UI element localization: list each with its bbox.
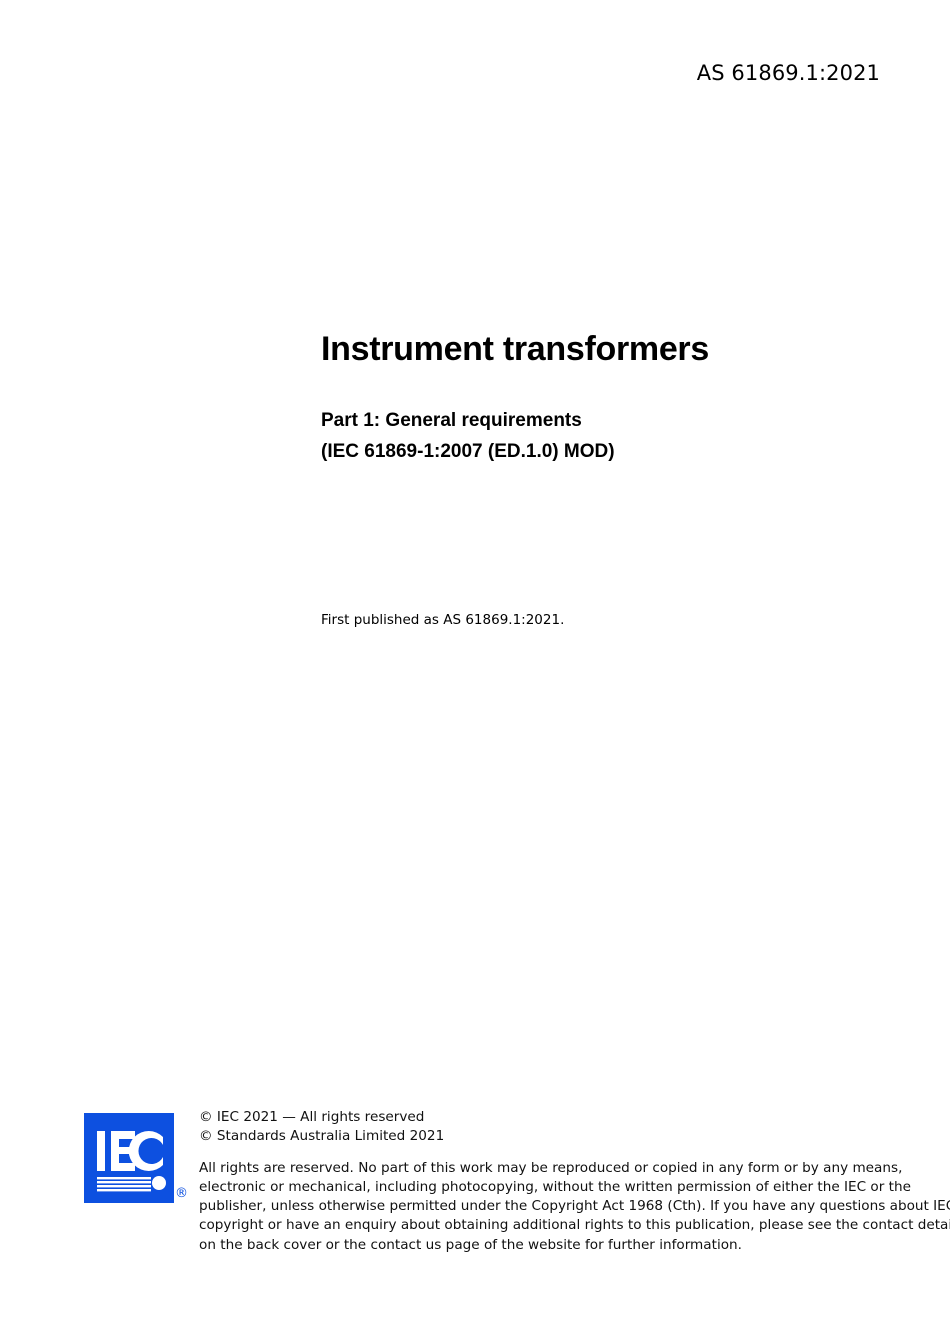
- publication-note: First published as AS 61869.1:2021.: [321, 612, 564, 628]
- page-footer: ® © IEC 2021 — All rights reserved © Sta…: [0, 1108, 950, 1248]
- iec-logo: ®: [84, 1113, 188, 1217]
- title-block: Instrument transformers Part 1: General …: [321, 330, 890, 468]
- subtitle-block: Part 1: General requirements (IEC 61869-…: [321, 406, 890, 468]
- legal-paragraph: All rights are reserved. No part of this…: [199, 1159, 881, 1255]
- iec-logo-mark-icon: [84, 1113, 174, 1203]
- page-title: Instrument transformers: [321, 330, 890, 368]
- subtitle-line-part: Part 1: General requirements: [321, 406, 890, 437]
- iec-logo-square: [84, 1113, 174, 1203]
- legal-block: © IEC 2021 — All rights reserved © Stand…: [199, 1108, 881, 1255]
- subtitle-line-source: (IEC 61869-1:2007 (ED.1.0) MOD): [321, 437, 890, 468]
- registered-trademark-icon: ®: [175, 1187, 188, 1200]
- copyright-line-standards-australia: © Standards Australia Limited 2021: [199, 1127, 881, 1146]
- legal-line: All rights are reserved. No part of this…: [199, 1159, 881, 1178]
- legal-line: electronic or mechanical, including phot…: [199, 1178, 881, 1197]
- legal-line: copyright or have an enquiry about obtai…: [199, 1216, 881, 1235]
- standard-number-header: AS 61869.1:2021: [697, 61, 880, 85]
- copyright-line-iec: © IEC 2021 — All rights reserved: [199, 1108, 881, 1127]
- legal-line: publisher, unless otherwise permitted un…: [199, 1197, 881, 1216]
- legal-line: on the back cover or the contact us page…: [199, 1236, 881, 1255]
- copyright-notice: © IEC 2021 — All rights reserved © Stand…: [199, 1108, 881, 1147]
- document-cover-page: AS 61869.1:2021 Instrument transformers …: [0, 0, 950, 1344]
